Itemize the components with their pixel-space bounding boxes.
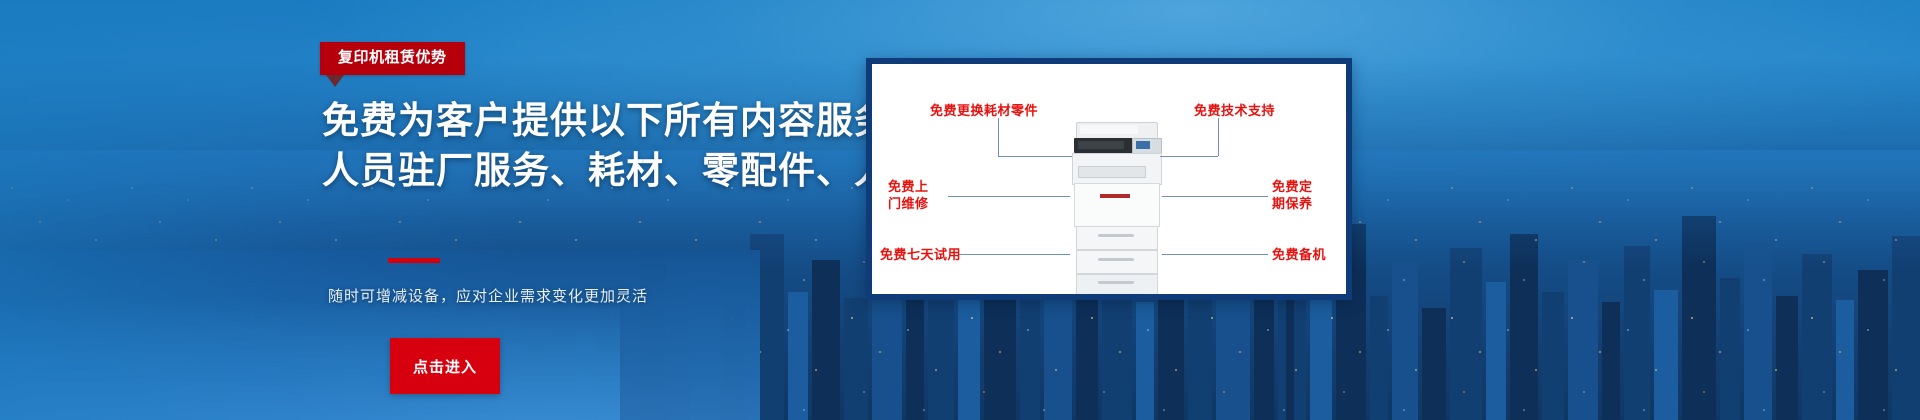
banner-subtitle: 随时可增减设备，应对企业需求变化更加灵活 <box>328 286 888 308</box>
leader-line-mid-left-h <box>948 196 1070 197</box>
leader-line-bottom-left-h <box>958 254 1070 255</box>
label-free-tech-support: 免费技术支持 <box>1194 102 1275 119</box>
banner-text-column: 复印机租赁优势 免费为客户提供以下所有内容服务： 人员驻厂服务、耗材、零配件、人… <box>320 0 880 420</box>
heading-underline-rule <box>388 258 440 263</box>
label-text-line1: 免费上 <box>888 178 929 195</box>
product-feature-card: 免费更换耗材零件 免费技术支持 免费上 门维修 免费定 期保养 免费七天试用 免… <box>866 58 1352 300</box>
enter-button[interactable]: 点击进入 <box>390 338 500 394</box>
promo-badge-tail-icon <box>326 75 344 87</box>
label-text: 免费备机 <box>1272 247 1326 262</box>
leader-line-top-left-v <box>998 118 999 156</box>
label-free-regular-maintenance: 免费定 期保养 <box>1272 178 1313 212</box>
promo-badge: 复印机租赁优势 <box>320 42 465 75</box>
product-card-inner: 免费更换耗材零件 免费技术支持 免费上 门维修 免费定 期保养 免费七天试用 免… <box>872 64 1346 294</box>
label-free-consumable-parts: 免费更换耗材零件 <box>930 102 1038 119</box>
leader-line-top-right-h <box>1160 156 1218 157</box>
banner-heading: 免费为客户提供以下所有内容服务： 人员驻厂服务、耗材、零配件、人工费 <box>322 96 882 196</box>
promo-badge-label: 复印机租赁优势 <box>338 49 447 66</box>
label-text: 免费更换耗材零件 <box>930 103 1038 118</box>
leader-line-bottom-right-h <box>1162 254 1268 255</box>
label-free-backup-machine: 免费备机 <box>1272 246 1326 263</box>
label-text-line2: 期保养 <box>1272 195 1313 212</box>
promo-banner: 复印机租赁优势 免费为客户提供以下所有内容服务： 人员驻厂服务、耗材、零配件、人… <box>0 0 1920 420</box>
label-text-line2: 门维修 <box>888 195 929 212</box>
enter-button-label: 点击进入 <box>413 356 477 377</box>
banner-heading-line1: 免费为客户提供以下所有内容服务： <box>322 100 930 141</box>
banner-heading-line2: 人员驻厂服务、耗材、零配件、人工费 <box>322 146 882 196</box>
leader-line-top-right-v <box>1218 118 1219 156</box>
label-text: 免费七天试用 <box>880 247 961 262</box>
leader-line-top-left-h <box>998 156 1072 157</box>
label-text: 免费技术支持 <box>1194 103 1275 118</box>
leader-line-mid-right-h <box>1162 196 1268 197</box>
label-free-onsite-repair: 免费上 门维修 <box>888 178 929 212</box>
copier-icon <box>1070 122 1162 294</box>
label-text-line1: 免费定 <box>1272 178 1313 195</box>
label-free-seven-day-trial: 免费七天试用 <box>880 246 961 263</box>
